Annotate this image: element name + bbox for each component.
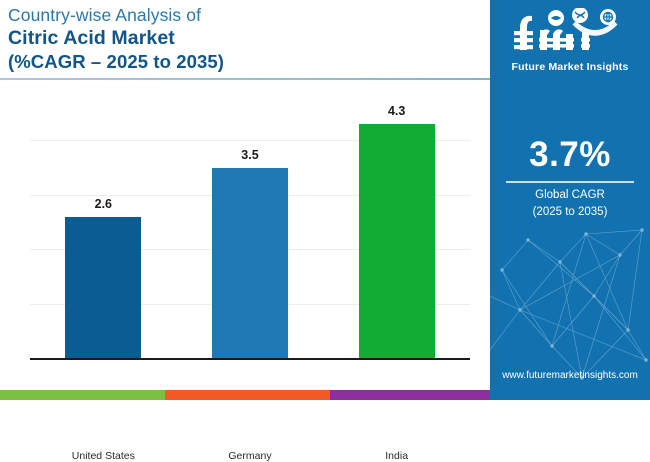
bar-germany[interactable] — [212, 168, 288, 358]
bottom-color-strip — [0, 390, 490, 400]
bar-united-states[interactable] — [65, 217, 141, 358]
title-line-3: (%CAGR – 2025 to 2035) — [8, 50, 478, 74]
strip-segment-orange — [165, 390, 330, 400]
strip-segment-green — [0, 390, 165, 400]
bar-group: 3.5Germany — [177, 86, 324, 358]
x-axis-label: United States — [30, 450, 177, 462]
header-divider — [0, 78, 490, 80]
bar-group: 2.6United States — [30, 86, 177, 358]
bar-chart: 2.6United States3.5Germany4.3India — [0, 86, 490, 386]
bar-group: 4.3India — [323, 86, 470, 358]
infographic-root: Country-wise Analysis of Citric Acid Mar… — [0, 0, 650, 400]
bar-value-label: 4.3 — [323, 104, 470, 118]
x-axis-label: Germany — [177, 450, 324, 462]
website-url[interactable]: www.futuremarketinsights.com — [490, 370, 650, 381]
x-axis-line — [30, 358, 470, 360]
chart-panel: Country-wise Analysis of Citric Acid Mar… — [0, 0, 490, 400]
fmi-logo-icon — [510, 8, 630, 58]
page-title: Country-wise Analysis of Citric Acid Mar… — [8, 4, 478, 74]
global-cagr-period: (2025 to 2035) — [490, 204, 650, 221]
brand-sidebar: Future Market Insights 3.7% Global CAGR … — [490, 0, 650, 400]
title-line-1: Country-wise Analysis of — [8, 4, 478, 26]
bars-container: 2.6United States3.5Germany4.3India — [30, 86, 470, 358]
cagr-divider — [506, 181, 634, 183]
bar-value-label: 3.5 — [177, 148, 324, 162]
title-line-2: Citric Acid Market — [8, 26, 478, 50]
x-axis-label: India — [323, 450, 470, 462]
strip-segment-purple — [330, 390, 490, 400]
fmi-logo: Future Market Insights — [490, 8, 650, 73]
bar-india[interactable] — [359, 124, 435, 358]
fmi-logo-subtitle: Future Market Insights — [490, 61, 650, 73]
global-cagr-value: 3.7% — [490, 134, 650, 176]
global-cagr-label: Global CAGR — [490, 187, 650, 204]
bar-value-label: 2.6 — [30, 197, 177, 211]
